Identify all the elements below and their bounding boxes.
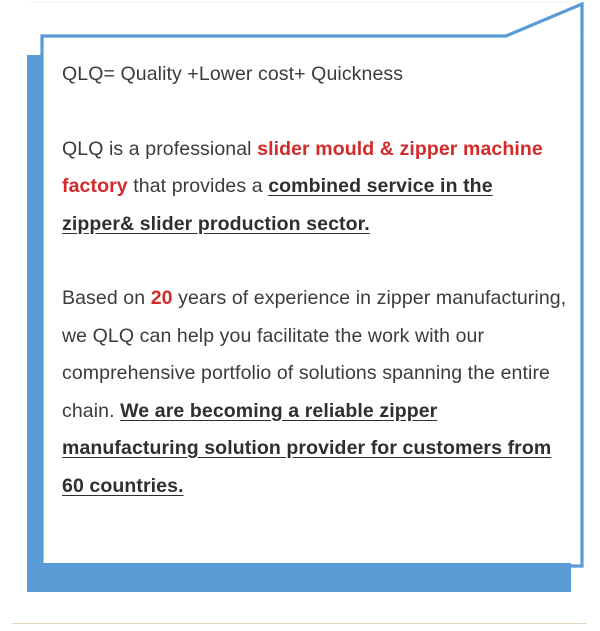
intro-run-2: that provides a [128,175,268,197]
experience-run-3-underline: We are becoming a reliable zipper manufa… [62,400,551,497]
card-text-body: QLQ= Quality +Lower cost+ Quickness QLQ … [62,56,570,505]
paragraph-experience: Based on 20 years of experience in zippe… [62,280,570,505]
accent-bar-bottom [27,563,571,592]
accent-bar-left [27,55,44,592]
experience-run-0: Based on [62,287,151,309]
bottom-page-rule [12,623,587,624]
intro-run-0: QLQ is a professional [62,138,257,160]
experience-run-1-red: 20 [151,287,173,309]
heading-line: QLQ= Quality +Lower cost+ Quickness [62,56,570,94]
paragraph-spacer-2 [62,243,570,280]
paragraph-intro: QLQ is a professional slider mould & zip… [62,131,570,244]
paragraph-spacer-1 [62,94,570,131]
slide-graphic: QLQ= Quality +Lower cost+ Quickness QLQ … [0,0,600,605]
